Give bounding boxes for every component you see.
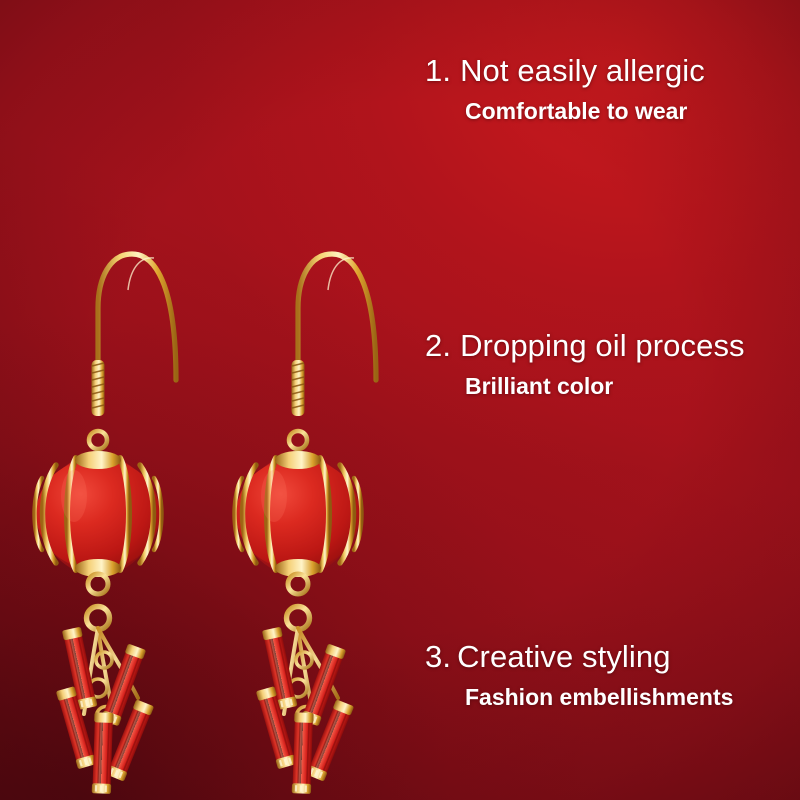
feature-number-1: 1. — [425, 53, 451, 88]
feature-number-3: 3. — [425, 639, 451, 674]
jump-ring — [87, 574, 110, 630]
feature-callout-1: 1.Not easily allergic Comfortable to wea… — [425, 53, 705, 125]
feature-subtitle-1: Comfortable to wear — [465, 98, 705, 125]
feature-number-2: 2. — [425, 328, 451, 363]
feature-subtitle-2: Brilliant color — [465, 373, 745, 400]
earring-left — [58, 132, 238, 732]
ear-hook-wire — [298, 254, 376, 380]
feature-title-text-3: Creative styling — [457, 639, 671, 674]
coil-spring — [289, 360, 307, 449]
feature-title-3: 3.Creative styling — [425, 639, 733, 675]
lantern-bead — [35, 451, 162, 577]
feature-title-2: 2.Dropping oil process — [425, 328, 745, 364]
lantern-bead — [235, 451, 362, 577]
coil-spring — [89, 360, 107, 449]
ear-hook-wire — [98, 254, 176, 380]
earring-right — [258, 132, 438, 732]
feature-callout-2: 2.Dropping oil process Brilliant color — [425, 328, 745, 400]
feature-title-text-2: Dropping oil process — [460, 328, 745, 363]
feature-callout-3: 3.Creative styling Fashion embellishment… — [425, 639, 733, 711]
feature-title-text-1: Not easily allergic — [460, 53, 705, 88]
feature-subtitle-3: Fashion embellishments — [465, 684, 733, 711]
product-feature-image: 1.Not easily allergic Comfortable to wea… — [0, 0, 800, 800]
jump-ring — [287, 574, 310, 630]
feature-title-1: 1.Not easily allergic — [425, 53, 705, 89]
